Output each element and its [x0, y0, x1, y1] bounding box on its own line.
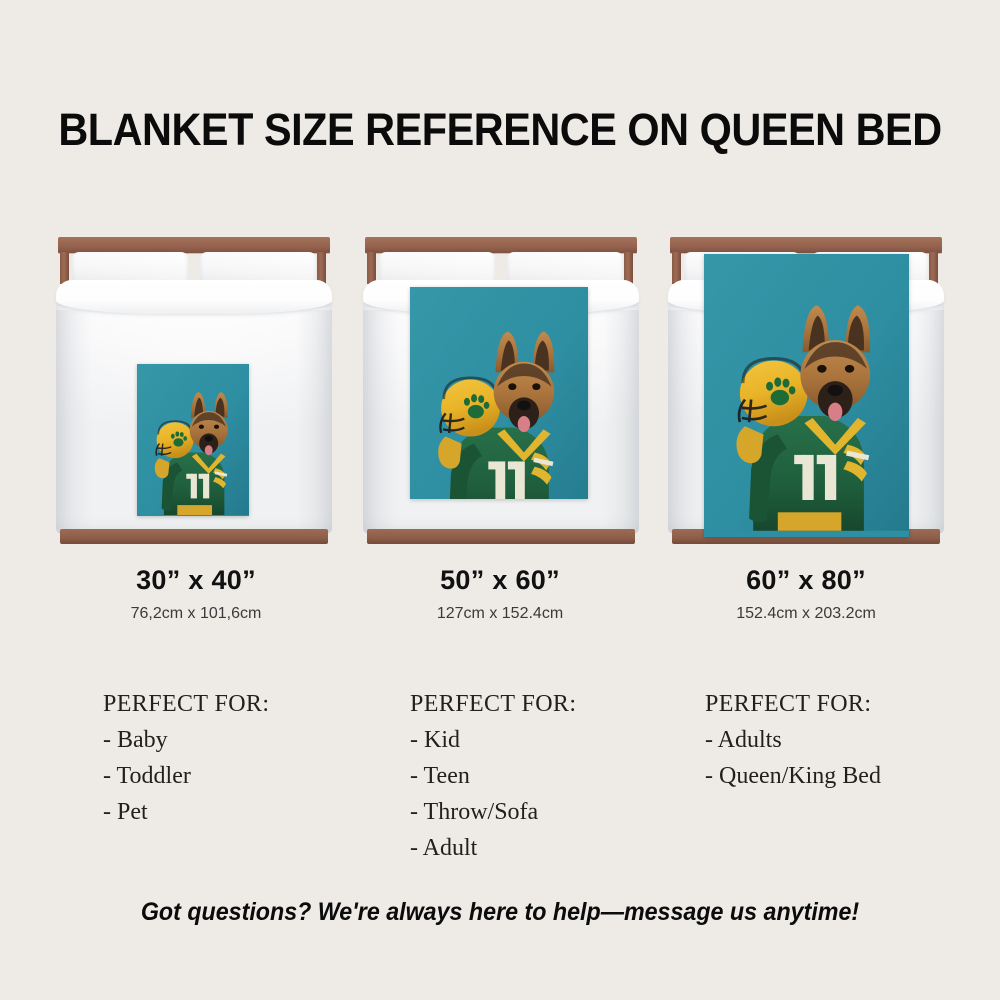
size-inches: 50” x 60” [350, 565, 650, 596]
size-label-30x40: 30” x 40” 76,2cm x 101,6cm [46, 565, 346, 623]
perfect-for-list-60x80: PERFECT FOR: - Adults - Queen/King Bed [705, 686, 995, 794]
headboard-rail [670, 237, 942, 253]
list-item: - Adult [410, 830, 700, 866]
headboard-rail [365, 237, 637, 253]
page-title: BLANKET SIZE REFERENCE ON QUEEN BED [40, 104, 960, 156]
list-item: - Adults [705, 722, 995, 758]
blanket-artwork [137, 364, 249, 515]
size-centimeters: 127cm x 152.4cm [350, 605, 650, 623]
blanket-30x40 [137, 364, 249, 516]
footboard-rail [367, 529, 635, 544]
bed-illustration-30x40 [48, 232, 338, 552]
size-inches: 60” x 80” [656, 565, 956, 596]
footboard-rail [60, 529, 328, 544]
blanket-artwork [410, 287, 588, 499]
blanket-artwork [704, 254, 909, 531]
list-item: - Kid [410, 722, 700, 758]
size-centimeters: 152.4cm x 203.2cm [656, 605, 956, 623]
list-item: - Pet [103, 794, 393, 830]
perfect-for-heading: PERFECT FOR: [410, 686, 700, 722]
size-label-60x80: 60” x 80” 152.4cm x 203.2cm [656, 565, 956, 623]
perfect-for-list-30x40: PERFECT FOR: - Baby - Toddler - Pet [103, 686, 393, 830]
list-item: - Toddler [103, 758, 393, 794]
size-labels-row: 30” x 40” 76,2cm x 101,6cm 50” x 60” 127… [0, 565, 1000, 635]
perfect-for-list-50x60: PERFECT FOR: - Kid - Teen - Throw/Sofa -… [410, 686, 700, 866]
support-tagline: Got questions? We're always here to help… [35, 898, 965, 927]
perfect-for-heading: PERFECT FOR: [705, 686, 995, 722]
blanket-50x60 [410, 287, 588, 499]
list-item: - Queen/King Bed [705, 758, 995, 794]
size-label-50x60: 50” x 60” 127cm x 152.4cm [350, 565, 650, 623]
list-item: - Throw/Sofa [410, 794, 700, 830]
blanket-60x80 [704, 254, 909, 537]
size-inches: 30” x 40” [46, 565, 346, 596]
bed-illustrations-row [0, 232, 1000, 552]
bed-illustration-50x60 [355, 232, 645, 552]
bed-illustration-60x80 [660, 232, 950, 552]
perfect-for-row: PERFECT FOR: - Baby - Toddler - Pet PERF… [0, 686, 1000, 876]
perfect-for-heading: PERFECT FOR: [103, 686, 393, 722]
list-item: - Baby [103, 722, 393, 758]
list-item: - Teen [410, 758, 700, 794]
headboard-rail [58, 237, 330, 253]
size-centimeters: 76,2cm x 101,6cm [46, 605, 346, 623]
